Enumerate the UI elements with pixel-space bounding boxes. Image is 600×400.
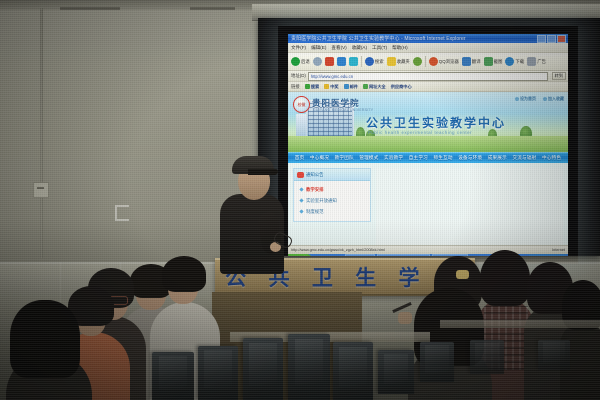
nav-item-exchange[interactable]: 交流与辐射 [512, 155, 536, 161]
hair-clip-icon [456, 270, 469, 279]
announcement-title: 通知公告 [306, 172, 324, 178]
list-item[interactable]: 实验室开放通知 [294, 195, 370, 206]
search-button[interactable]: 搜索 [365, 57, 384, 66]
capture-button[interactable]: 截图 [484, 57, 503, 66]
home-button[interactable] [349, 57, 358, 66]
nav-item-management[interactable]: 管理模式 [359, 155, 378, 161]
media-button[interactable] [413, 57, 422, 66]
woman-foreground-hair [10, 300, 80, 378]
student-hand [398, 312, 412, 324]
toolbar-separator [425, 56, 426, 67]
link-nav[interactable]: 网址大全 [363, 84, 386, 90]
refresh-icon [337, 57, 346, 66]
browser-menu-bar[interactable]: 文件(F) 编辑(E) 查看(V) 收藏(A) 工具(T) 帮助(H) [288, 43, 568, 53]
presenter [218, 150, 292, 270]
address-url-text: http://www.gmc.edu.cn [311, 74, 353, 79]
home-icon [349, 57, 358, 66]
university-emblem-icon: 校徽 [293, 96, 310, 113]
link-search[interactable]: 搜索 [305, 84, 319, 90]
star-icon [387, 57, 396, 66]
audience-person [6, 300, 92, 400]
refresh-button[interactable] [337, 57, 346, 66]
forward-button[interactable] [313, 57, 322, 66]
set-homepage-link[interactable]: 设为首页 [515, 96, 536, 102]
browser-toolbar[interactable]: 后退 搜索 收藏夹 [288, 53, 568, 71]
adblock-button[interactable]: 广告 [527, 57, 546, 66]
homepage-icon [515, 97, 519, 101]
download-button[interactable]: 下载 [505, 57, 524, 66]
list-item-label: 制度规范 [306, 209, 324, 215]
nav-item-teaching[interactable]: 实验教学 [384, 155, 403, 161]
monitor [420, 342, 454, 382]
monitor [470, 340, 504, 374]
woman-white-coat-hair [162, 256, 206, 292]
back-arrow-icon [291, 57, 300, 66]
monitor [538, 340, 570, 370]
links-label: 链接 [291, 84, 300, 90]
nav-item-interact[interactable]: 师生互动 [433, 155, 452, 161]
site-subtitle: Public health experimental teaching cent… [368, 130, 472, 135]
capture-icon [484, 57, 493, 66]
sidebar: 通知公告 教学安排 实验室开放通知 [288, 168, 371, 245]
toolbar-separator [361, 56, 362, 67]
browser-window-title: 贵阳医学院公共卫生学院 公共卫生实验教学中心 - Microsoft Inter… [291, 35, 466, 42]
translate-button[interactable]: 翻译 [462, 57, 481, 66]
favorites-label: 收藏夹 [397, 59, 410, 65]
site-nav[interactable]: 首页 中心概况 教学团队 管理模式 实验教学 自主学习 师生互动 设备与环境 成… [288, 152, 568, 163]
list-item-label: 实验室开放通知 [306, 198, 337, 204]
address-bar[interactable]: 地址(D) http://www.gmc.edu.cn 转到 [288, 71, 568, 82]
list-item[interactable]: 教学安排 [294, 184, 370, 195]
download-icon [505, 57, 514, 66]
minimize-button[interactable] [537, 35, 546, 43]
sign-char: 生 [355, 262, 378, 292]
sign-char: 卫 [312, 262, 335, 292]
qq-label: QQ浏览器 [439, 59, 459, 65]
webpage: 校徽 贵阳医学院 GUIYANG MEDICAL UNIVERSITY 公共卫生… [288, 92, 568, 245]
adblock-label: 广告 [537, 59, 546, 65]
bullet-icon [299, 187, 303, 191]
add-favorite-link[interactable]: 加入收藏 [543, 96, 564, 102]
address-label: 地址(D) [291, 73, 306, 79]
adblock-icon [527, 57, 536, 66]
wall-conduit-pipe [40, 8, 43, 258]
add-favorite-label: 加入收藏 [548, 96, 564, 102]
download-label: 下载 [515, 59, 524, 65]
favorites-button[interactable]: 收藏夹 [387, 57, 410, 66]
link-search-icon [305, 84, 310, 89]
taskbar-item[interactable]: 公共卫生实验教学中心 [377, 254, 430, 256]
menu-help[interactable]: 帮助(H) [392, 45, 408, 51]
monitor [288, 334, 330, 400]
announcement-list: 教学安排 实验室开放通知 制度规范 [294, 181, 370, 221]
announcement-panel: 通知公告 教学安排 实验室开放通知 [293, 168, 371, 222]
link-search-label: 搜索 [311, 84, 319, 90]
link-star-icon [324, 84, 329, 89]
back-label: 后退 [301, 59, 310, 65]
menu-tools[interactable]: 工具(T) [372, 45, 387, 51]
ceiling-crack [60, 7, 120, 10]
banner-tree [356, 127, 365, 141]
media-icon [413, 57, 422, 66]
site-title: 公共卫生实验教学中心 [366, 114, 506, 131]
monitor [152, 352, 194, 400]
announcement-header: 通知公告 [294, 169, 370, 181]
stop-icon [325, 57, 334, 66]
link-nav-label: 网址大全 [369, 84, 386, 90]
nav-item-home[interactable]: 首页 [295, 155, 305, 161]
nav-item-features[interactable]: 中心特色 [542, 155, 561, 161]
maximize-button[interactable] [547, 35, 556, 43]
qq-icon [429, 57, 438, 66]
page-main-content [376, 168, 563, 245]
cap-brim [248, 169, 278, 175]
taskbar-item[interactable]: 我的电脑 [345, 254, 375, 256]
bullet-icon [299, 209, 303, 213]
nav-item-selfstudy[interactable]: 自主学习 [409, 155, 428, 161]
link-mail[interactable]: 邮件 [344, 84, 358, 90]
link-mail-label: 邮件 [350, 84, 358, 90]
back-button[interactable]: 后退 [291, 57, 310, 66]
projected-desktop: 贵阳医学院公共卫生学院 公共卫生实验教学中心 - Microsoft Inter… [288, 34, 568, 256]
address-input[interactable]: http://www.gmc.edu.cn [308, 72, 548, 81]
favorite-icon [543, 97, 547, 101]
emblem-label: 校徽 [298, 102, 306, 108]
banner-tree [520, 126, 532, 141]
page-body: 通知公告 教学安排 实验室开放通知 [288, 163, 568, 245]
search-label: 搜索 [375, 59, 384, 65]
menu-favorites[interactable]: 收藏(A) [352, 45, 367, 51]
monitor [198, 346, 238, 400]
links-bar[interactable]: 链接 搜索 中奖 邮件 网址大全 供应商中心 [288, 82, 568, 92]
ceiling-crack [190, 7, 235, 10]
translate-label: 翻译 [472, 59, 481, 65]
system-tray[interactable]: 10:21 [529, 254, 566, 256]
browser-title-bar: 贵阳医学院公共卫生学院 公共卫生实验教学中心 - Microsoft Inter… [288, 34, 568, 43]
set-homepage-label: 设为首页 [520, 96, 536, 102]
link-shop-label: 供应商中心 [391, 84, 412, 90]
menu-file[interactable]: 文件(F) [291, 45, 306, 51]
desk [440, 320, 600, 328]
monitor [243, 338, 283, 400]
menu-view[interactable]: 查看(V) [331, 45, 346, 51]
wall-outlet-box [33, 182, 49, 198]
link-shop[interactable]: 供应商中心 [391, 84, 412, 90]
banner-tools[interactable]: 设为首页 加入收藏 [515, 96, 564, 102]
nav-item-results[interactable]: 成果展示 [488, 155, 507, 161]
close-icon[interactable] [557, 35, 566, 43]
nav-item-overview[interactable]: 中心概况 [310, 155, 329, 161]
list-item-label: 教学安排 [306, 187, 324, 193]
university-name-en: GUIYANG MEDICAL UNIVERSITY [313, 108, 373, 112]
window-controls[interactable] [537, 35, 568, 43]
announcement-icon [297, 172, 304, 178]
monitor [333, 342, 373, 400]
classroom-photo: 贵阳医学院公共卫生学院 公共卫生实验教学中心 - Microsoft Inter… [0, 0, 600, 400]
status-zone: Internet [552, 248, 565, 252]
list-item[interactable]: 制度规范 [294, 206, 370, 217]
link-nav-icon [363, 84, 368, 89]
link-star[interactable]: 中奖 [324, 84, 338, 90]
monitor [378, 350, 414, 394]
wall-bracket-mark [115, 205, 129, 221]
forward-arrow-icon [313, 57, 322, 66]
stop-button[interactable] [325, 57, 334, 66]
nav-item-team[interactable]: 教学团队 [335, 155, 354, 161]
menu-edit[interactable]: 编辑(E) [311, 45, 326, 51]
capture-label: 截图 [494, 59, 503, 65]
qq-toolbar-button[interactable]: QQ浏览器 [429, 57, 459, 66]
site-banner: 校徽 贵阳医学院 GUIYANG MEDICAL UNIVERSITY 公共卫生… [288, 92, 568, 152]
link-mail-icon [344, 84, 349, 89]
link-star-label: 中奖 [330, 84, 338, 90]
nav-item-equipment[interactable]: 设备与环境 [458, 155, 482, 161]
search-icon [365, 57, 374, 66]
translate-icon [462, 57, 471, 66]
go-button[interactable]: 转到 [552, 72, 566, 80]
bullet-icon [299, 198, 303, 202]
